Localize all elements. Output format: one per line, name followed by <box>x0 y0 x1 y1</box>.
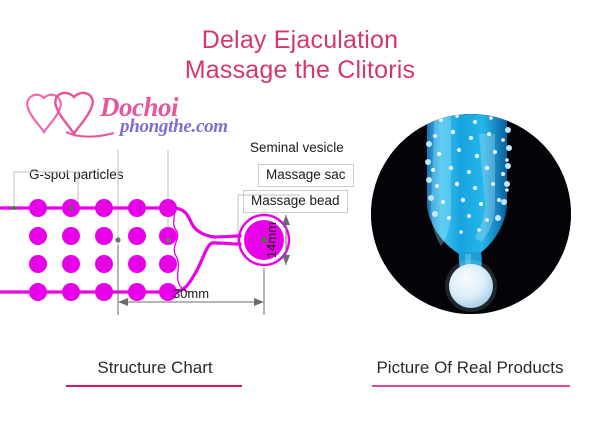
anchor-dot-left <box>12 206 16 210</box>
title-line-2: Massage the Clitoris <box>0 56 600 86</box>
g-spot-particles <box>29 199 177 301</box>
anchor-dot-gspot <box>69 206 73 210</box>
anchor-dot-sac <box>115 237 120 242</box>
infographic-page: Delay Ejaculation Massage the Clitoris D… <box>0 0 600 441</box>
caption-structure-chart: Structure Chart <box>40 358 270 378</box>
page-title: Delay Ejaculation Massage the Clitoris <box>0 26 600 85</box>
sleeve-inner-wave <box>172 208 190 292</box>
sleeve-outline <box>0 208 240 292</box>
caption-rule-right <box>372 385 570 387</box>
product-photo <box>371 114 571 314</box>
caption-rule-left <box>66 385 242 387</box>
caption-real-products: Picture Of Real Products <box>345 358 595 378</box>
anchor-dot-neck <box>165 237 170 242</box>
title-line-1: Delay Ejaculation <box>0 26 600 56</box>
logo-word-phongthe: phongthe.com <box>120 116 228 138</box>
structure-diagram: 30mm 14mm <box>0 150 350 330</box>
dimension-label-14mm: 14mm <box>264 222 279 258</box>
dimension-label-30mm: 30mm <box>173 286 209 301</box>
brand-logo[interactable]: Dochoi phongthe.com <box>22 86 212 144</box>
